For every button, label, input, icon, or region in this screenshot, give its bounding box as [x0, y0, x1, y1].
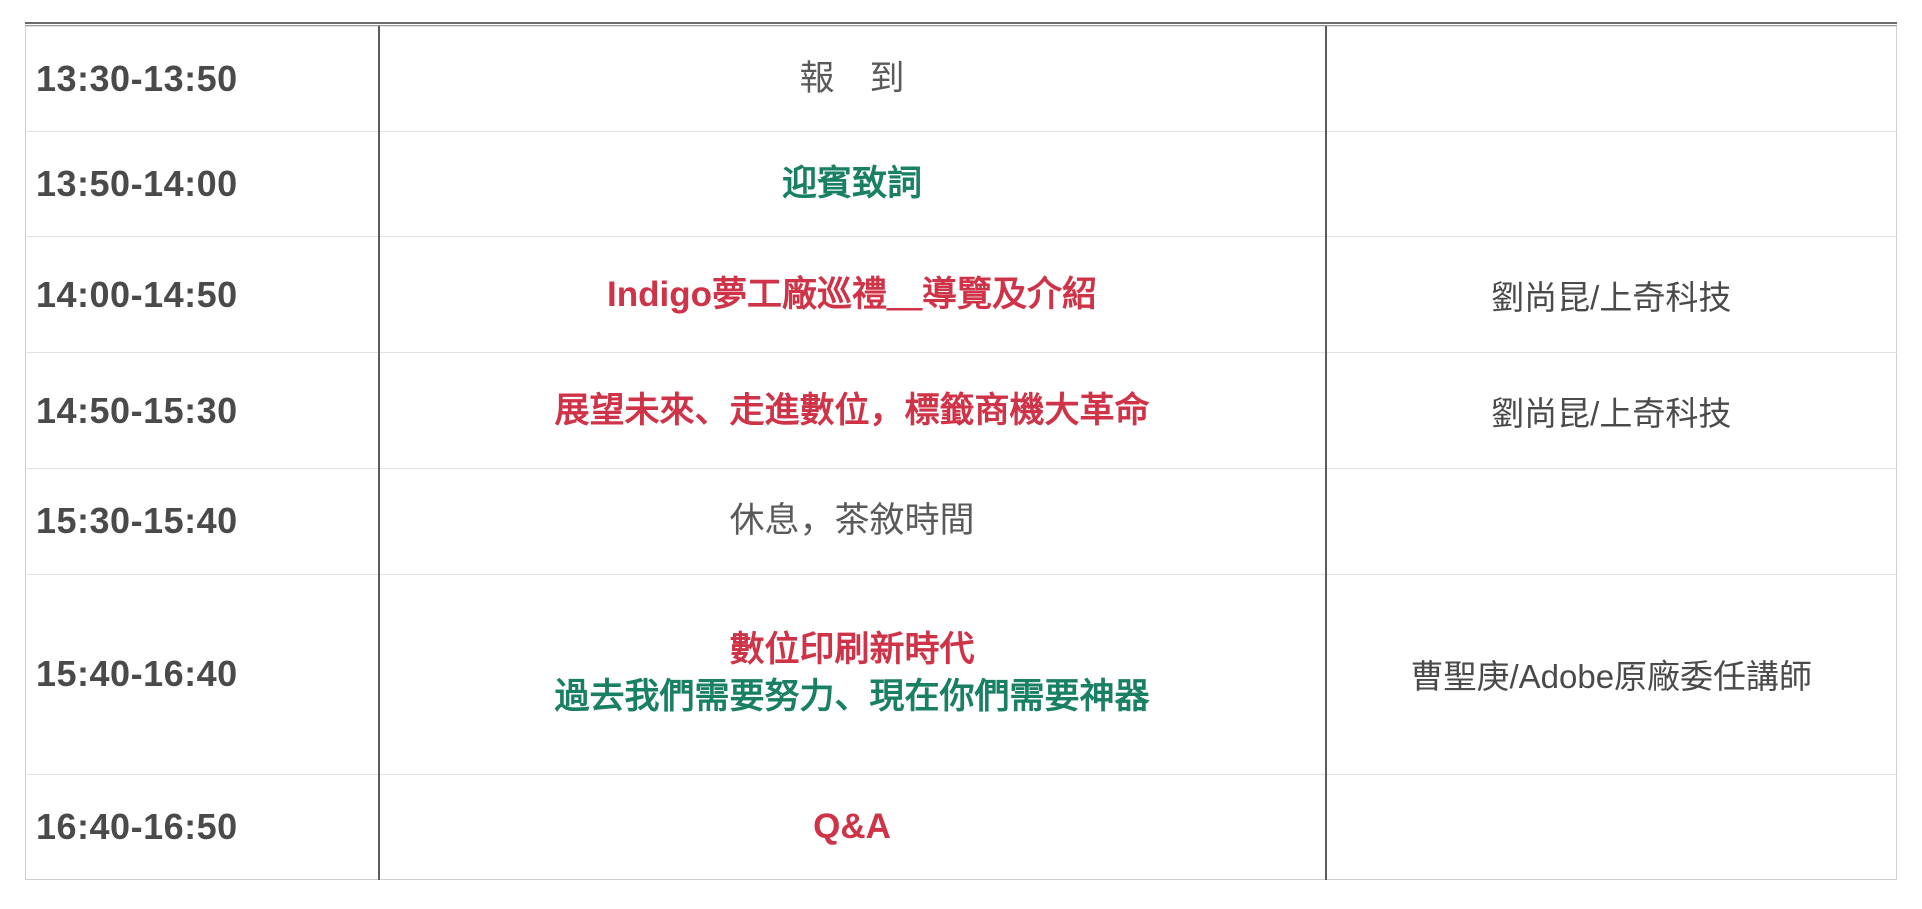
- table-row: 14:50-15:30展望未來、走進數位，標籤商機大革命劉尚昆/上奇科技: [26, 353, 1897, 469]
- speaker-cell: [1326, 774, 1897, 879]
- time-cell: 14:00-14:50: [26, 237, 379, 353]
- topic-cell: 迎賓致詞: [379, 132, 1326, 237]
- topic-line: Q&A: [390, 806, 1315, 849]
- schedule-page: 13:30-13:50報 到13:50-14:00迎賓致詞14:00-14:50…: [0, 0, 1922, 909]
- speaker-cell: [1326, 132, 1897, 237]
- topic-cell: Indigo夢工廠巡禮＿導覽及介紹: [379, 237, 1326, 353]
- topic-line: 迎賓致詞: [390, 163, 1315, 206]
- topic-cell: 休息，茶敘時間: [379, 469, 1326, 574]
- time-cell: 16:40-16:50: [26, 774, 379, 879]
- topic-cell: Q&A: [379, 774, 1326, 879]
- table-row: 13:50-14:00迎賓致詞: [26, 132, 1897, 237]
- topic-line: 過去我們需要努力、現在你們需要神器: [390, 676, 1315, 719]
- agenda-table-body: 13:30-13:50報 到13:50-14:00迎賓致詞14:00-14:50…: [26, 27, 1897, 880]
- table-row: 15:40-16:40數位印刷新時代過去我們需要努力、現在你們需要神器曹聖庚/A…: [26, 574, 1897, 774]
- speaker-cell: 曹聖庚/Adobe原廠委任講師: [1326, 574, 1897, 774]
- topic-cell: 展望未來、走進數位，標籤商機大革命: [379, 353, 1326, 469]
- table-row: 14:00-14:50Indigo夢工廠巡禮＿導覽及介紹劉尚昆/上奇科技: [26, 237, 1897, 353]
- time-cell: 14:50-15:30: [26, 353, 379, 469]
- topic-line: 休息，茶敘時間: [390, 500, 1315, 543]
- speaker-cell: [1326, 27, 1897, 132]
- table-row: 16:40-16:50Q&A: [26, 774, 1897, 879]
- time-cell: 15:40-16:40: [26, 574, 379, 774]
- table-row: 15:30-15:40休息，茶敘時間: [26, 469, 1897, 574]
- speaker-cell: 劉尚昆/上奇科技: [1326, 237, 1897, 353]
- topic-cell: 數位印刷新時代過去我們需要努力、現在你們需要神器: [379, 574, 1326, 774]
- agenda-table: 13:30-13:50報 到13:50-14:00迎賓致詞14:00-14:50…: [25, 26, 1897, 880]
- topic-line: 報 到: [390, 58, 1315, 101]
- topic-line: 數位印刷新時代: [390, 629, 1315, 672]
- speaker-cell: 劉尚昆/上奇科技: [1326, 353, 1897, 469]
- time-cell: 13:30-13:50: [26, 27, 379, 132]
- speaker-cell: [1326, 469, 1897, 574]
- time-cell: 15:30-15:40: [26, 469, 379, 574]
- table-row: 13:30-13:50報 到: [26, 27, 1897, 132]
- topic-cell: 報 到: [379, 27, 1326, 132]
- topic-line: 展望未來、走進數位，標籤商機大革命: [390, 390, 1315, 433]
- topic-line: Indigo夢工廠巡禮＿導覽及介紹: [390, 274, 1315, 317]
- time-cell: 13:50-14:00: [26, 132, 379, 237]
